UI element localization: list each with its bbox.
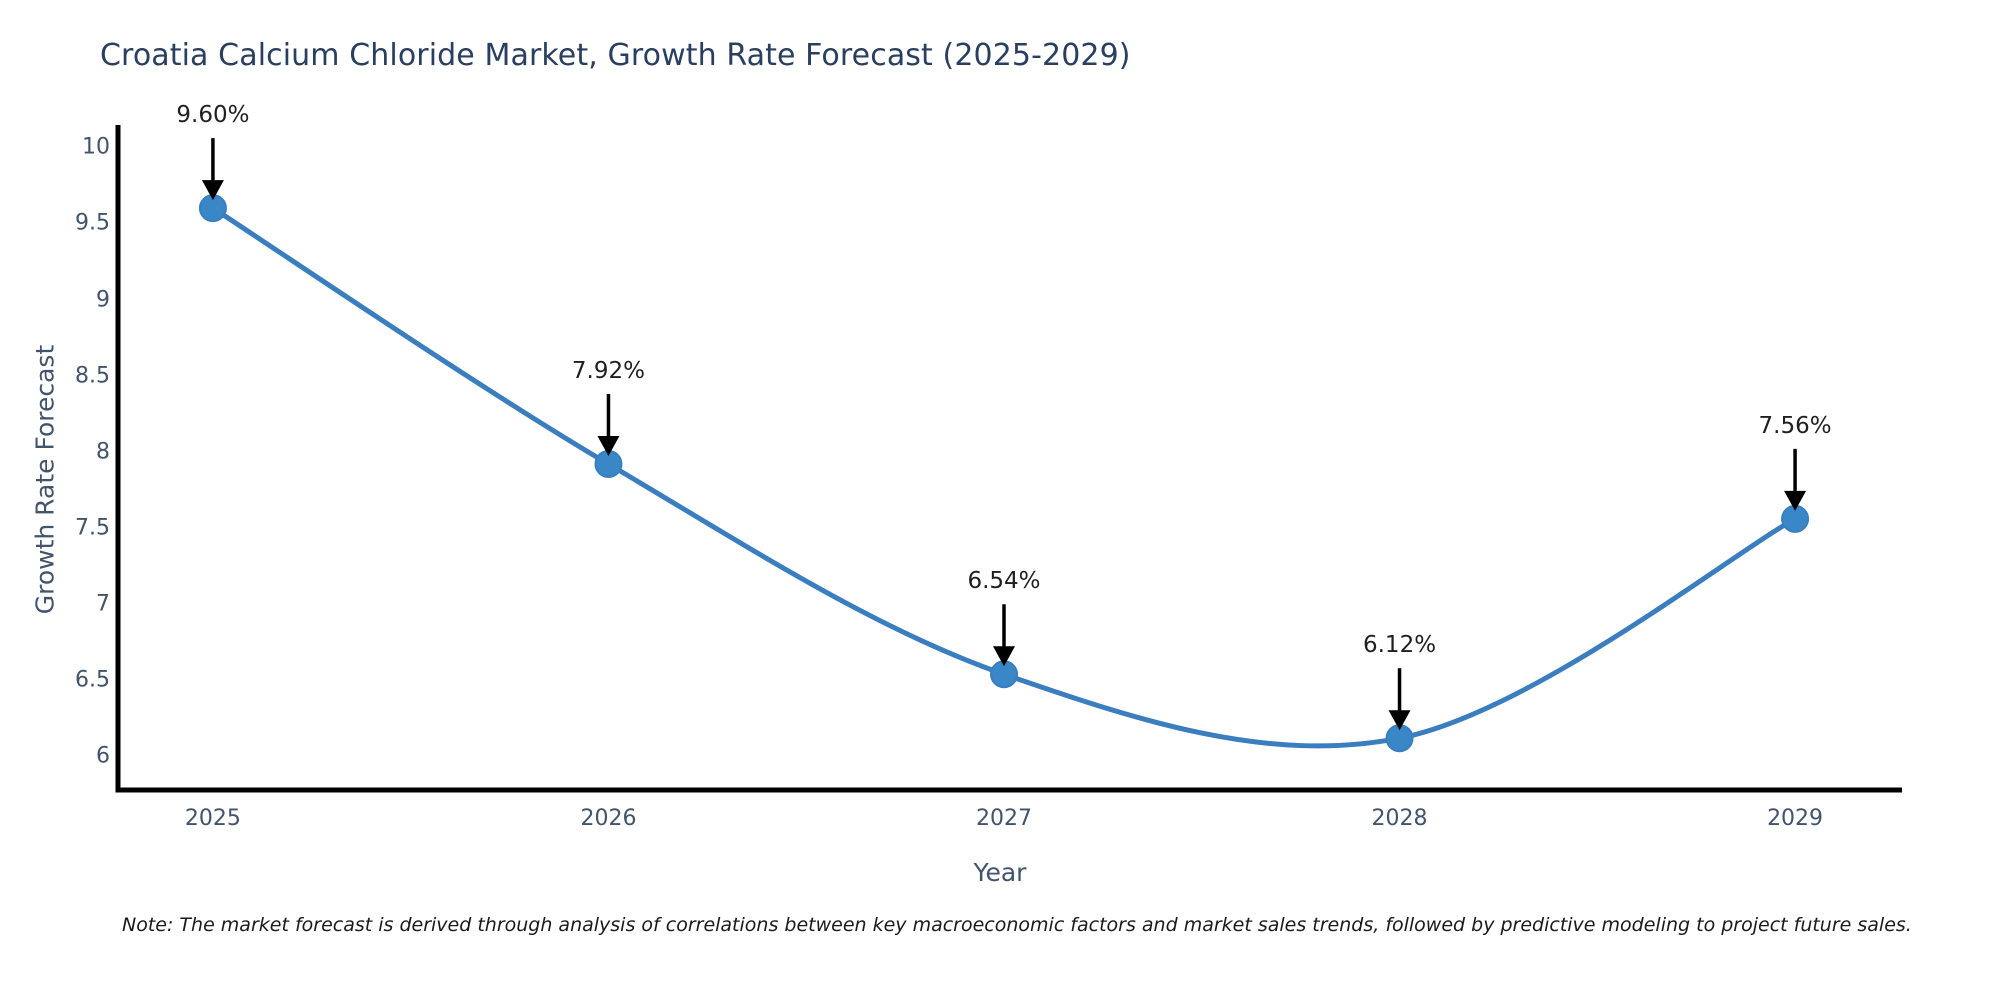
axis-lines bbox=[118, 125, 1902, 790]
x-axis-title: Year bbox=[0, 858, 2000, 887]
plot-area bbox=[0, 0, 2000, 1000]
data-point-label: 6.12% bbox=[1363, 632, 1436, 658]
data-point-label: 7.92% bbox=[572, 358, 645, 384]
data-point-label: 9.60% bbox=[176, 102, 249, 128]
chart-container: Croatia Calcium Chloride Market, Growth … bbox=[0, 0, 2000, 1000]
data-point-label: 6.54% bbox=[967, 568, 1040, 594]
data-point-label: 7.56% bbox=[1759, 413, 1832, 439]
annotation-arrows bbox=[202, 138, 1806, 730]
footer-note: Note: The market forecast is derived thr… bbox=[122, 914, 1912, 936]
